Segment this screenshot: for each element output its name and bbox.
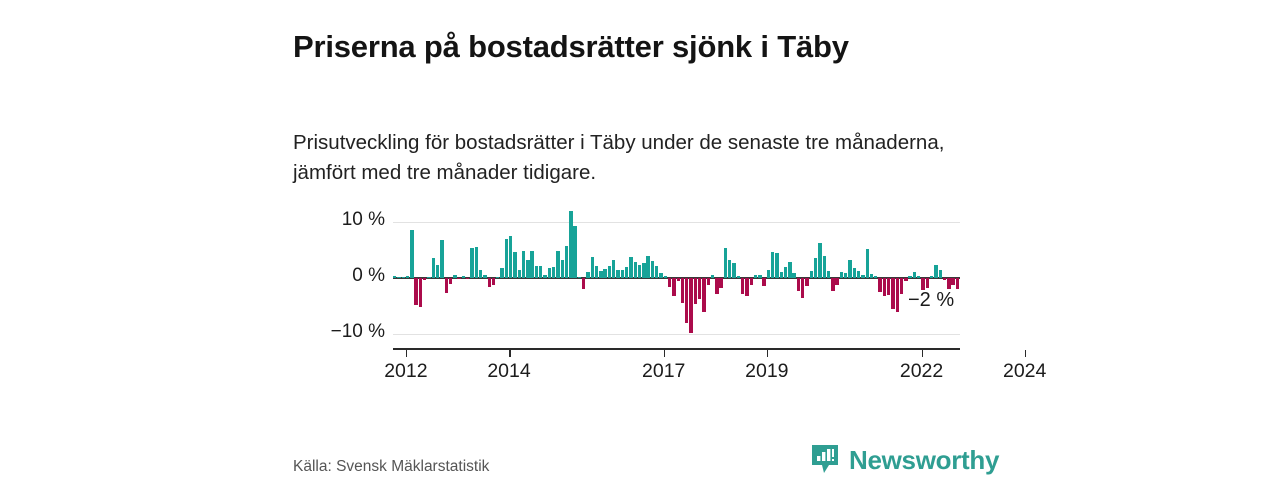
bar (668, 278, 671, 287)
bar (698, 278, 701, 299)
bar (586, 272, 589, 278)
bar (956, 278, 959, 289)
bar (591, 257, 594, 278)
bar (728, 260, 731, 278)
x-axis-tick-label: 2017 (642, 360, 685, 383)
bar (402, 277, 405, 278)
bar (694, 278, 697, 304)
bar (651, 261, 654, 278)
bar (835, 278, 838, 285)
bar (475, 247, 478, 278)
bar (642, 263, 645, 278)
bar (659, 273, 662, 278)
bar (466, 278, 469, 279)
bar (827, 271, 830, 278)
bar (410, 230, 413, 278)
bar (483, 275, 486, 278)
bar (535, 266, 538, 278)
bar (930, 276, 933, 278)
bar (853, 268, 856, 278)
bar (771, 252, 774, 278)
bar (419, 278, 422, 307)
plot-area (393, 200, 960, 350)
bar (522, 251, 525, 278)
bar (616, 270, 619, 278)
bar (561, 260, 564, 278)
bar (754, 275, 757, 278)
bar (393, 276, 396, 278)
bar (823, 256, 826, 278)
bar (870, 274, 873, 278)
x-axis-tick (509, 350, 511, 357)
bar (917, 276, 920, 278)
bar (518, 270, 521, 278)
bar (818, 243, 821, 278)
x-axis-tick (1025, 350, 1027, 357)
bar (891, 278, 894, 309)
bar (397, 277, 400, 278)
bar (887, 278, 890, 295)
bar (462, 276, 465, 278)
x-axis-tick-label: 2019 (745, 360, 788, 383)
bar (689, 278, 692, 333)
y-axis-tick-label: 10 % (305, 209, 385, 231)
bar (762, 278, 765, 286)
bar (543, 275, 546, 278)
bar (578, 277, 581, 278)
bar (612, 260, 615, 278)
source-note: Källa: Svensk Mäklarstatistik (293, 458, 489, 476)
bar (608, 266, 611, 278)
bar (603, 269, 606, 278)
bar (552, 267, 555, 278)
x-axis-tick (922, 350, 924, 357)
x-axis-line (393, 348, 960, 350)
bar (921, 278, 924, 290)
bar (715, 278, 718, 294)
bar (724, 248, 727, 278)
bar (857, 271, 860, 278)
bar (780, 272, 783, 278)
y-axis-tick-label: 0 % (305, 265, 385, 287)
x-axis-tick-label: 2022 (900, 360, 943, 383)
bar (840, 272, 843, 278)
bar (767, 270, 770, 278)
bar (913, 272, 916, 278)
x-axis-tick-label: 2014 (487, 360, 530, 383)
bar (707, 278, 710, 285)
y-axis-tick-label: −10 % (305, 321, 385, 343)
bar (646, 256, 649, 278)
bar (943, 278, 946, 280)
bar (470, 248, 473, 278)
bar (488, 278, 491, 287)
bar (509, 236, 512, 278)
bar (599, 271, 602, 278)
y-axis-labels: 10 %0 %−10 % (293, 200, 385, 350)
bar (737, 276, 740, 278)
x-axis-tick (664, 350, 666, 357)
logo-wordmark: Newsworthy (849, 445, 999, 476)
bar (947, 278, 950, 289)
bar (526, 260, 529, 278)
bar (677, 278, 680, 281)
bar-series (393, 200, 960, 350)
bar (900, 278, 903, 294)
bar (453, 275, 456, 278)
bar (445, 278, 448, 293)
bar (926, 278, 929, 288)
bar (638, 265, 641, 278)
bar (423, 278, 426, 280)
bar (883, 278, 886, 296)
bar (810, 271, 813, 278)
bar (548, 268, 551, 278)
bar (539, 266, 542, 278)
bar (908, 276, 911, 278)
bar (500, 268, 503, 278)
speech-bubble-bar-chart-icon (810, 443, 840, 477)
bar (745, 278, 748, 296)
x-axis-tick (406, 350, 408, 357)
bar (664, 276, 667, 278)
bar (732, 263, 735, 278)
x-axis-tick-label: 2012 (384, 360, 427, 383)
bar (719, 278, 722, 288)
bar (896, 278, 899, 312)
bar (556, 251, 559, 278)
bar (414, 278, 417, 305)
bar (848, 260, 851, 278)
bar (951, 278, 954, 285)
bar (569, 211, 572, 278)
bar (513, 252, 516, 278)
bar (595, 266, 598, 278)
bar (530, 251, 533, 278)
bar (792, 273, 795, 278)
bar (496, 277, 499, 278)
bar (784, 267, 787, 278)
bar (573, 226, 576, 278)
bar (582, 278, 585, 289)
bar (904, 278, 907, 281)
bar (844, 273, 847, 278)
bar (440, 240, 443, 278)
bar (797, 278, 800, 291)
last-value-annotation: −2 % (908, 289, 954, 312)
bar (655, 266, 658, 278)
bar (565, 246, 568, 278)
x-axis-tick (767, 350, 769, 357)
bar (861, 275, 864, 278)
bar (874, 276, 877, 278)
bar (449, 278, 452, 284)
bar (681, 278, 684, 303)
bar (939, 270, 942, 278)
newsworthy-logo: Newsworthy (810, 443, 999, 477)
bar-chart: 10 %0 %−10 % 201220142017201920222024 −2… (0, 0, 1280, 480)
bar (805, 278, 808, 286)
bar (866, 249, 869, 278)
bar (492, 278, 495, 285)
bar (702, 278, 705, 312)
bar (427, 277, 430, 278)
bar (775, 253, 778, 278)
newsworthy-chart-card: Priserna på bostadsrätter sjönk i Täby P… (0, 0, 1280, 480)
bar (750, 278, 753, 285)
bar (621, 270, 624, 278)
bar (758, 275, 761, 278)
bar (457, 278, 460, 279)
bar (788, 262, 791, 278)
bar (814, 258, 817, 278)
bar (741, 278, 744, 294)
bar (878, 278, 881, 292)
bar (672, 278, 675, 296)
bar (505, 239, 508, 278)
bar (625, 267, 628, 278)
bar (685, 278, 688, 323)
bar (629, 257, 632, 278)
bar (406, 276, 409, 278)
bar (479, 270, 482, 278)
bar (711, 275, 714, 278)
bar (934, 265, 937, 278)
bar (801, 278, 804, 298)
bar (436, 265, 439, 278)
bar (634, 262, 637, 278)
bar (831, 278, 834, 291)
bar (432, 258, 435, 278)
x-axis-tick-label: 2024 (1003, 360, 1046, 383)
